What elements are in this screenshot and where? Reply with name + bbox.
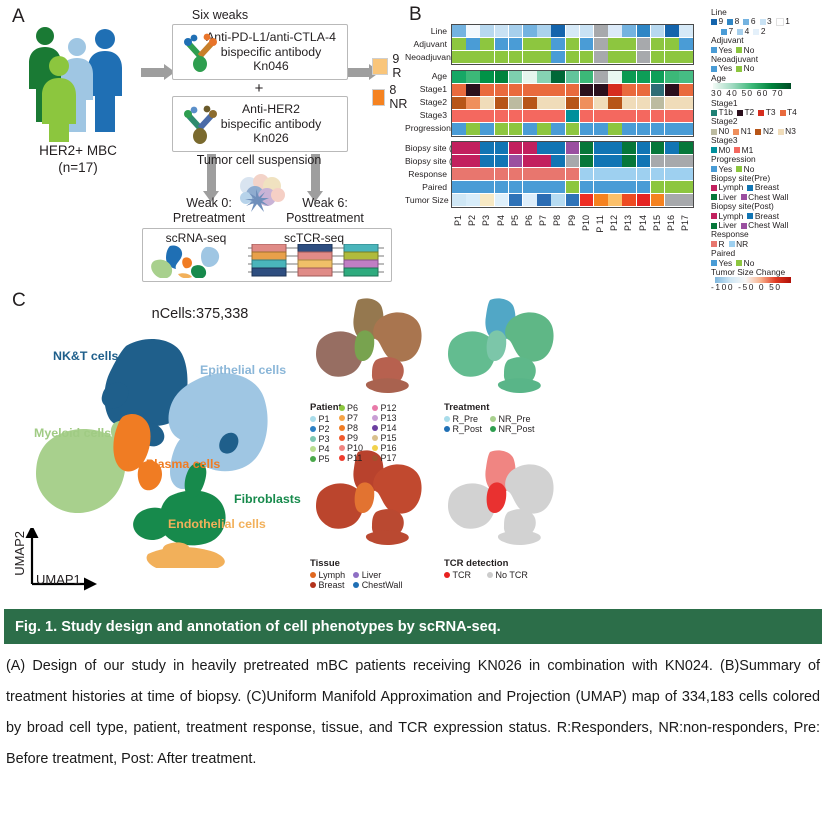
heatmap-cell[interactable] bbox=[509, 38, 523, 50]
heatmap-cell[interactable] bbox=[594, 97, 608, 109]
heatmap-cell[interactable] bbox=[637, 25, 651, 37]
legend-item[interactable]: N3 bbox=[778, 127, 796, 136]
heatmap-cell[interactable] bbox=[608, 123, 622, 135]
heatmap-cell[interactable] bbox=[594, 123, 608, 135]
heatmap-cell[interactable] bbox=[566, 155, 580, 167]
legend-dot bbox=[310, 456, 316, 462]
heatmap-cell[interactable] bbox=[580, 123, 594, 135]
heatmap-cell[interactable] bbox=[665, 168, 679, 180]
heatmap-cell[interactable] bbox=[594, 38, 608, 50]
heatmap-cell[interactable] bbox=[551, 38, 565, 50]
heatmap-cell[interactable] bbox=[509, 110, 523, 122]
heatmap-cell[interactable] bbox=[594, 168, 608, 180]
heatmap-cell[interactable] bbox=[665, 123, 679, 135]
legend-label: 4 bbox=[745, 27, 750, 36]
tissue-legend-item[interactable]: Lymph bbox=[310, 570, 345, 580]
patient-legend-item[interactable]: P6 bbox=[339, 403, 364, 413]
heatmap-cell[interactable] bbox=[452, 84, 466, 96]
umap1-axis-label: UMAP1 bbox=[36, 572, 81, 587]
heatmap-cell[interactable] bbox=[509, 155, 523, 167]
heatmap-cell[interactable] bbox=[608, 25, 622, 37]
heatmap-cell[interactable] bbox=[651, 97, 665, 109]
heatmap-cell[interactable] bbox=[509, 25, 523, 37]
heatmap-cell[interactable] bbox=[580, 194, 594, 206]
legend-label: No bbox=[744, 64, 755, 73]
legend-row: YesNo bbox=[711, 64, 826, 73]
patient-legend-item[interactable]: P8 bbox=[339, 423, 364, 433]
legend-label: No TCR bbox=[496, 570, 528, 580]
heatmap-cell[interactable] bbox=[566, 38, 580, 50]
heatmap-cell[interactable] bbox=[608, 168, 622, 180]
heatmap-cell[interactable] bbox=[551, 123, 565, 135]
heatmap-cell[interactable] bbox=[495, 51, 509, 63]
heatmap-cell[interactable] bbox=[523, 194, 537, 206]
heatmap-cell[interactable] bbox=[594, 181, 608, 193]
heatmap-cell[interactable] bbox=[466, 51, 480, 63]
legend-item[interactable]: T2 bbox=[737, 108, 754, 117]
heatmap-cell[interactable] bbox=[608, 38, 622, 50]
heatmap-cell[interactable] bbox=[466, 155, 480, 167]
treatment-legend-item[interactable]: NR_Pre bbox=[490, 414, 535, 424]
heatmap-cell[interactable] bbox=[566, 51, 580, 63]
heatmap-cell[interactable] bbox=[566, 97, 580, 109]
heatmap-cell[interactable] bbox=[622, 155, 636, 167]
heatmap-cell[interactable] bbox=[637, 155, 651, 167]
heatmap-cell[interactable] bbox=[608, 110, 622, 122]
heatmap-cell[interactable] bbox=[566, 25, 580, 37]
heatmap-cell[interactable] bbox=[537, 123, 551, 135]
heatmap-cell[interactable] bbox=[594, 84, 608, 96]
heatmap-cell[interactable] bbox=[608, 97, 622, 109]
heatmap-cell[interactable] bbox=[651, 38, 665, 50]
panel-a: A Six weaks HER2+ MBC (n=17) Anti-PD-L1/… bbox=[0, 0, 400, 285]
heatmap-cell[interactable] bbox=[480, 38, 494, 50]
panel-c-letter: C bbox=[12, 290, 26, 312]
heatmap-cell[interactable] bbox=[679, 38, 693, 50]
heatmap-cell[interactable] bbox=[537, 168, 551, 180]
heatmap-cell[interactable] bbox=[580, 110, 594, 122]
heatmap-cell[interactable] bbox=[651, 123, 665, 135]
heatmap-cell[interactable] bbox=[608, 181, 622, 193]
heatmap-cell[interactable] bbox=[622, 84, 636, 96]
heatmap-cell[interactable] bbox=[537, 71, 551, 83]
heatmap-cell[interactable] bbox=[537, 155, 551, 167]
heatmap-col-label: P13 bbox=[623, 215, 633, 231]
tissue-legend-item[interactable]: Liver bbox=[353, 570, 402, 580]
heatmap-cell[interactable] bbox=[480, 25, 494, 37]
heatmap-cell[interactable] bbox=[537, 97, 551, 109]
heatmap-cell[interactable] bbox=[622, 97, 636, 109]
heatmap-cell[interactable] bbox=[608, 51, 622, 63]
heatmap-cell[interactable] bbox=[523, 38, 537, 50]
heatmap-cell[interactable] bbox=[637, 168, 651, 180]
heatmap-cell[interactable] bbox=[495, 155, 509, 167]
heatmap-cell[interactable] bbox=[651, 71, 665, 83]
heatmap-cell[interactable] bbox=[523, 110, 537, 122]
heatmap-cell[interactable] bbox=[523, 181, 537, 193]
heatmap-cell[interactable] bbox=[622, 71, 636, 83]
legend-dot bbox=[487, 572, 493, 578]
heatmap-cell[interactable] bbox=[679, 25, 693, 37]
six-weeks-label: Six weaks bbox=[150, 8, 290, 22]
heatmap-cell[interactable] bbox=[480, 168, 494, 180]
heatmap-cell[interactable] bbox=[651, 84, 665, 96]
heatmap-cell[interactable] bbox=[651, 155, 665, 167]
legend-label: 3 bbox=[767, 17, 772, 26]
heatmap-cell[interactable] bbox=[537, 51, 551, 63]
heatmap-cell[interactable] bbox=[452, 25, 466, 37]
patient-legend-item[interactable]: P2 bbox=[310, 424, 330, 434]
tcr-legend-item[interactable]: No TCR bbox=[487, 570, 528, 580]
heatmap-cell[interactable] bbox=[480, 51, 494, 63]
heatmap-cell[interactable] bbox=[523, 123, 537, 135]
heatmap-cell[interactable] bbox=[537, 84, 551, 96]
treatment-legend-item[interactable]: NR_Post bbox=[490, 424, 535, 434]
heatmap-cell[interactable] bbox=[665, 142, 679, 154]
heatmap-cell[interactable] bbox=[495, 110, 509, 122]
treatment-legend-item[interactable]: R_Post bbox=[444, 424, 482, 434]
heatmap-cell[interactable] bbox=[509, 84, 523, 96]
heatmap-cell[interactable] bbox=[466, 194, 480, 206]
heatmap-cell[interactable] bbox=[537, 110, 551, 122]
heatmap-cell[interactable] bbox=[466, 25, 480, 37]
tissue-legend-item[interactable]: ChestWall bbox=[353, 580, 402, 590]
legend-dot bbox=[339, 415, 345, 421]
heatmap-cell[interactable] bbox=[452, 194, 466, 206]
heatmap-cell[interactable] bbox=[608, 194, 622, 206]
legend-item[interactable]: No bbox=[736, 64, 754, 73]
heatmap-cell[interactable] bbox=[679, 51, 693, 63]
heatmap-cell[interactable] bbox=[523, 84, 537, 96]
heatmap-cell[interactable] bbox=[651, 168, 665, 180]
legend-item[interactable]: T3 bbox=[758, 108, 775, 117]
heatmap-cell[interactable] bbox=[679, 123, 693, 135]
heatmap-cell[interactable] bbox=[466, 123, 480, 135]
patient-legend-item[interactable]: P11 bbox=[339, 453, 364, 463]
heatmap-cell[interactable] bbox=[551, 142, 565, 154]
heatmap-cell[interactable] bbox=[509, 142, 523, 154]
umap-axes bbox=[24, 528, 114, 601]
heatmap-cell[interactable] bbox=[551, 155, 565, 167]
patient-legend-item[interactable]: P7 bbox=[339, 413, 364, 423]
heatmap-cell[interactable] bbox=[537, 38, 551, 50]
heatmap-cell[interactable] bbox=[523, 97, 537, 109]
heatmap-cell[interactable] bbox=[580, 181, 594, 193]
legend-item[interactable]: T4 bbox=[780, 108, 797, 117]
legend-item[interactable]: 1 bbox=[776, 17, 790, 26]
heatmap-cell[interactable] bbox=[566, 181, 580, 193]
heatmap-cell[interactable] bbox=[637, 123, 651, 135]
heatmap-cell[interactable] bbox=[580, 51, 594, 63]
heatmap-cell[interactable] bbox=[580, 84, 594, 96]
patient-legend-item[interactable]: P16 bbox=[372, 443, 397, 453]
heatmap-cell[interactable] bbox=[495, 71, 509, 83]
heatmap-cell[interactable] bbox=[665, 84, 679, 96]
heatmap-cell[interactable] bbox=[466, 110, 480, 122]
heatmap-cell[interactable] bbox=[665, 97, 679, 109]
heatmap-cell[interactable] bbox=[480, 84, 494, 96]
heatmap-cell[interactable] bbox=[551, 97, 565, 109]
patient-legend-item[interactable]: P1 bbox=[310, 414, 330, 424]
heatmap-cell[interactable] bbox=[580, 71, 594, 83]
week0-line1: Weak 0: bbox=[150, 196, 268, 210]
heatmap-cell[interactable] bbox=[665, 71, 679, 83]
heatmap-cell[interactable] bbox=[679, 110, 693, 122]
legend-swatch bbox=[734, 147, 740, 153]
heatmap-cell[interactable] bbox=[523, 168, 537, 180]
heatmap-cell[interactable] bbox=[466, 142, 480, 154]
heatmap-col-label: P4 bbox=[496, 215, 506, 226]
legend-dot bbox=[310, 582, 316, 588]
heatmap-cell[interactable] bbox=[594, 155, 608, 167]
heatmap-cell[interactable] bbox=[679, 194, 693, 206]
legend-label: NR bbox=[736, 240, 748, 249]
legend-item[interactable]: N2 bbox=[755, 127, 773, 136]
heatmap-cell[interactable] bbox=[580, 142, 594, 154]
heatmap-cell[interactable] bbox=[622, 51, 636, 63]
heatmap-cell[interactable] bbox=[651, 142, 665, 154]
heatmap-cell[interactable] bbox=[637, 142, 651, 154]
heatmap-cell[interactable] bbox=[537, 181, 551, 193]
heatmap-cell[interactable] bbox=[566, 123, 580, 135]
heatmap-cell[interactable] bbox=[608, 84, 622, 96]
heatmap-cell[interactable] bbox=[452, 142, 466, 154]
heatmap-cell[interactable] bbox=[495, 25, 509, 37]
legend-swatch bbox=[729, 241, 735, 247]
legend-label: NR_Pre bbox=[499, 414, 531, 424]
legend-dot bbox=[310, 426, 316, 432]
treatment-legend-item[interactable]: R_Pre bbox=[444, 414, 482, 424]
heatmap-cell[interactable] bbox=[523, 142, 537, 154]
heatmap-cell[interactable] bbox=[495, 168, 509, 180]
heatmap-block-0 bbox=[451, 24, 694, 65]
heatmap-cell[interactable] bbox=[665, 51, 679, 63]
heatmap-cell[interactable] bbox=[637, 71, 651, 83]
heatmap-cell[interactable] bbox=[480, 142, 494, 154]
heatmap-cell[interactable] bbox=[523, 51, 537, 63]
patient-legend-item[interactable]: P3 bbox=[310, 434, 330, 444]
heatmap-cell[interactable] bbox=[551, 71, 565, 83]
heatmap-cell[interactable] bbox=[480, 71, 494, 83]
patient-legend-item[interactable]: P14 bbox=[372, 423, 397, 433]
legend-label: Chest Wall bbox=[748, 221, 788, 230]
heatmap-cell[interactable] bbox=[566, 71, 580, 83]
heatmap-cell[interactable] bbox=[679, 71, 693, 83]
tissue-legend-item[interactable]: Breast bbox=[310, 580, 345, 590]
celltype-label-endothelial: Endothelial cells bbox=[168, 517, 266, 531]
heatmap-cell[interactable] bbox=[608, 155, 622, 167]
heatmap-cell[interactable] bbox=[551, 110, 565, 122]
heatmap-cell[interactable] bbox=[580, 38, 594, 50]
heatmap-cell[interactable] bbox=[509, 194, 523, 206]
tcr-legend-item[interactable]: TCR bbox=[444, 570, 471, 580]
heatmap-cell[interactable] bbox=[452, 168, 466, 180]
heatmap-cell[interactable] bbox=[622, 25, 636, 37]
heatmap-row-label: Stage2 bbox=[405, 97, 447, 107]
heatmap-cell[interactable] bbox=[679, 97, 693, 109]
heatmap-cell[interactable] bbox=[637, 51, 651, 63]
heatmap-cell[interactable] bbox=[594, 25, 608, 37]
heatmap-cell[interactable] bbox=[637, 110, 651, 122]
heatmap-cell[interactable] bbox=[651, 110, 665, 122]
heatmap-cell[interactable] bbox=[537, 194, 551, 206]
heatmap-cell[interactable] bbox=[537, 25, 551, 37]
heatmap-cell[interactable] bbox=[523, 25, 537, 37]
celltype-label-epithelial: Epithelial cells bbox=[200, 363, 286, 377]
heatmap-cell[interactable] bbox=[495, 142, 509, 154]
heatmap-cell[interactable] bbox=[679, 168, 693, 180]
heatmap-cell[interactable] bbox=[651, 181, 665, 193]
heatmap-cell[interactable] bbox=[466, 168, 480, 180]
heatmap-cell[interactable] bbox=[622, 142, 636, 154]
heatmap-row-label: Biopsy site (Post) bbox=[405, 156, 447, 166]
heatmap-cell[interactable] bbox=[622, 38, 636, 50]
heatmap-cell[interactable] bbox=[566, 110, 580, 122]
heatmap-cell[interactable] bbox=[452, 110, 466, 122]
heatmap-cell[interactable] bbox=[580, 155, 594, 167]
heatmap-cell[interactable] bbox=[679, 181, 693, 193]
heatmap-cell[interactable] bbox=[466, 71, 480, 83]
patient-legend-item[interactable]: P5 bbox=[310, 454, 330, 464]
patient-legend-item[interactable]: P4 bbox=[310, 444, 330, 454]
heatmap-cell[interactable] bbox=[495, 84, 509, 96]
heatmap-cell[interactable] bbox=[637, 181, 651, 193]
heatmap-cell[interactable] bbox=[665, 38, 679, 50]
heatmap-cell[interactable] bbox=[622, 123, 636, 135]
heatmap-cell[interactable] bbox=[665, 181, 679, 193]
legend-dot bbox=[310, 436, 316, 442]
heatmap-cell[interactable] bbox=[566, 142, 580, 154]
legend-label: N3 bbox=[785, 127, 796, 136]
legend-item[interactable]: 9 bbox=[711, 17, 723, 26]
heatmap-cell[interactable] bbox=[651, 194, 665, 206]
patient-legend-item[interactable]: P9 bbox=[339, 433, 364, 443]
heatmap-cell[interactable] bbox=[665, 194, 679, 206]
legend-label: 9 bbox=[719, 17, 724, 26]
heatmap-cell[interactable] bbox=[679, 142, 693, 154]
heatmap-cell[interactable] bbox=[480, 110, 494, 122]
celltype-label-fibroblasts: Fibroblasts bbox=[234, 492, 301, 506]
heatmap-cell[interactable] bbox=[651, 51, 665, 63]
heatmap-cell[interactable] bbox=[608, 142, 622, 154]
heatmap-cell[interactable] bbox=[566, 194, 580, 206]
heatmap-cell[interactable] bbox=[466, 84, 480, 96]
legend-item[interactable]: 2 bbox=[753, 27, 765, 36]
heatmap-cell[interactable] bbox=[665, 110, 679, 122]
heatmap-cell[interactable] bbox=[495, 38, 509, 50]
heatmap-cell[interactable] bbox=[480, 123, 494, 135]
heatmap-row-label: Stage3 bbox=[405, 110, 447, 120]
heatmap-cell[interactable] bbox=[580, 168, 594, 180]
heatmap-cell[interactable] bbox=[594, 71, 608, 83]
heatmap-cell[interactable] bbox=[551, 51, 565, 63]
patient-legend-item[interactable]: P12 bbox=[372, 403, 397, 413]
heatmap-cell[interactable] bbox=[495, 123, 509, 135]
heatmap-cell[interactable] bbox=[452, 71, 466, 83]
heatmap-cell[interactable] bbox=[580, 25, 594, 37]
legend-label: 8 bbox=[735, 17, 740, 26]
heatmap-cell[interactable] bbox=[637, 38, 651, 50]
heatmap-cell[interactable] bbox=[509, 168, 523, 180]
legend-swatch bbox=[733, 129, 739, 135]
heatmap-cell[interactable] bbox=[665, 25, 679, 37]
heatmap-cell[interactable] bbox=[551, 194, 565, 206]
heatmap-cell[interactable] bbox=[566, 168, 580, 180]
heatmap-cell[interactable] bbox=[537, 142, 551, 154]
heatmap-cell[interactable] bbox=[452, 38, 466, 50]
legend-swatch bbox=[780, 110, 786, 116]
heatmap-cell[interactable] bbox=[452, 97, 466, 109]
heatmap-cell[interactable] bbox=[466, 181, 480, 193]
heatmap-cell[interactable] bbox=[608, 71, 622, 83]
legend-dot bbox=[444, 416, 450, 422]
heatmap-cell[interactable] bbox=[551, 84, 565, 96]
legend-dot bbox=[490, 416, 496, 422]
heatmap-cell[interactable] bbox=[509, 97, 523, 109]
heatmap-cell[interactable] bbox=[551, 25, 565, 37]
heatmap-cell[interactable] bbox=[495, 194, 509, 206]
legend-swatch bbox=[711, 223, 717, 229]
heatmap-cell[interactable] bbox=[452, 181, 466, 193]
heatmap-cell[interactable] bbox=[452, 155, 466, 167]
heatmap-cell[interactable] bbox=[452, 123, 466, 135]
tissue-legend: Tissue LymphBreastLiverChestWall bbox=[310, 558, 402, 590]
heatmap-cell[interactable] bbox=[637, 84, 651, 96]
heatmap-cell[interactable] bbox=[480, 181, 494, 193]
heatmap-cell[interactable] bbox=[637, 97, 651, 109]
heatmap-cell[interactable] bbox=[622, 168, 636, 180]
patient-legend-item[interactable]: P17 bbox=[372, 453, 397, 463]
heatmap-cell[interactable] bbox=[551, 181, 565, 193]
heatmap-cell[interactable] bbox=[480, 194, 494, 206]
heatmap-cell[interactable] bbox=[509, 51, 523, 63]
patient-legend-item[interactable]: P15 bbox=[372, 433, 397, 443]
heatmap-cell[interactable] bbox=[466, 38, 480, 50]
heatmap-cell[interactable] bbox=[665, 155, 679, 167]
heatmap-cell[interactable] bbox=[622, 110, 636, 122]
heatmap-cell[interactable] bbox=[679, 84, 693, 96]
heatmap-cell[interactable] bbox=[594, 51, 608, 63]
heatmap-cell[interactable] bbox=[523, 155, 537, 167]
heatmap-cell[interactable] bbox=[480, 155, 494, 167]
heatmap-cell[interactable] bbox=[523, 71, 537, 83]
heatmap-cell[interactable] bbox=[509, 181, 523, 193]
heatmap-cell[interactable] bbox=[452, 51, 466, 63]
heatmap-cell[interactable] bbox=[509, 123, 523, 135]
heatmap-cell[interactable] bbox=[551, 168, 565, 180]
heatmap-cell[interactable] bbox=[495, 181, 509, 193]
week6-line2: Posttreatment bbox=[262, 211, 388, 225]
legend-swatch bbox=[711, 166, 717, 172]
heatmap-row-label: Neoadjuvant bbox=[405, 52, 447, 62]
heatmap-cell[interactable] bbox=[622, 194, 636, 206]
heatmap-cell[interactable] bbox=[480, 97, 494, 109]
heatmap-cell[interactable] bbox=[466, 97, 480, 109]
heatmap-cell[interactable] bbox=[594, 142, 608, 154]
heatmap-cell[interactable] bbox=[651, 25, 665, 37]
heatmap-cell[interactable] bbox=[622, 181, 636, 193]
heatmap-cell[interactable] bbox=[679, 155, 693, 167]
heatmap-cell[interactable] bbox=[509, 71, 523, 83]
heatmap-cell[interactable] bbox=[495, 97, 509, 109]
patient-legend-item[interactable]: P10 bbox=[339, 443, 364, 453]
patient-legend-item[interactable]: P13 bbox=[372, 413, 397, 423]
heatmap-cell[interactable] bbox=[637, 194, 651, 206]
heatmap-cell[interactable] bbox=[580, 97, 594, 109]
heatmap-cell[interactable] bbox=[566, 84, 580, 96]
heatmap-cell[interactable] bbox=[594, 194, 608, 206]
heatmap-cell[interactable] bbox=[594, 110, 608, 122]
